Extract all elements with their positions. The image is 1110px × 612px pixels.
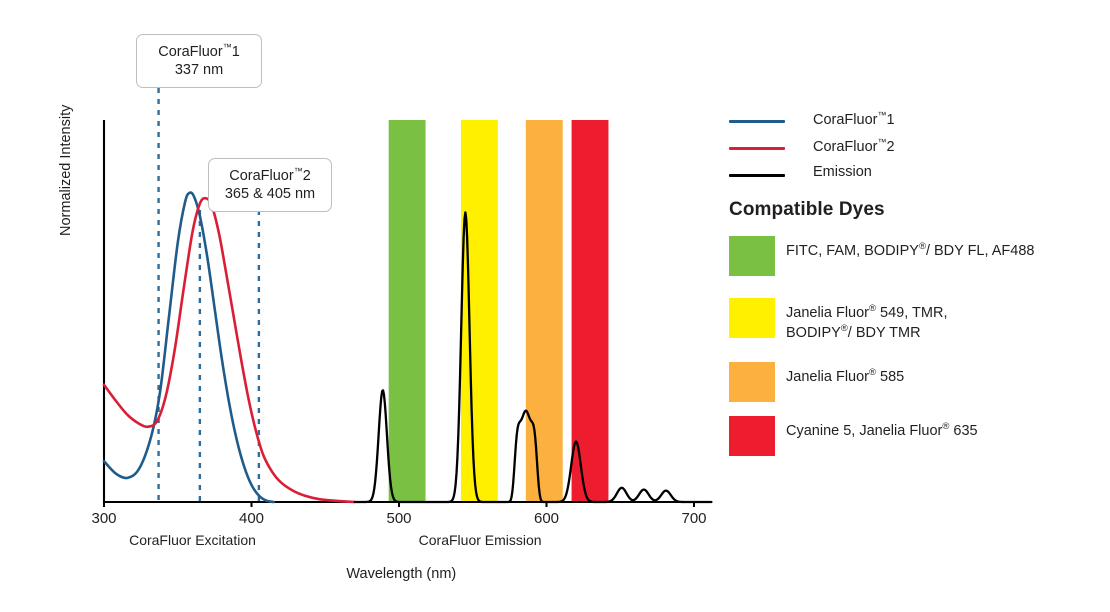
spectra-figure: CoraFluor™1 337 nm CoraFluor™2 365 & 405…	[0, 0, 1110, 612]
dye-swatch-2	[729, 362, 775, 402]
legend-line-swatch-0	[729, 120, 785, 123]
callout-corafluor2-line2: 365 & 405 nm	[221, 186, 319, 204]
callout-corafluor2-line1: CoraFluor™2	[221, 166, 319, 186]
dye-label-2: Janelia Fluor® 585	[786, 367, 1106, 387]
callout2-index: 2	[303, 168, 311, 184]
x-axis-excitation-label: CoraFluor Excitation	[113, 532, 273, 548]
callout2-tm-icon: ™	[294, 166, 303, 176]
x-tick-label-600: 600	[517, 510, 577, 527]
x-tick-label-700: 700	[664, 510, 724, 527]
legend-label-index-0: 1	[886, 112, 894, 128]
x-tick-label-400: 400	[222, 510, 282, 527]
curve-corafluor2	[104, 198, 355, 502]
dye-label-1-line-0: Janelia Fluor® 549, TMR,	[786, 303, 1106, 323]
registered-icon: ®	[919, 241, 926, 252]
legend-line-label-0: CoraFluor™1	[813, 110, 895, 128]
orange-band	[526, 120, 563, 502]
callout1-base: CoraFluor	[158, 44, 222, 60]
dye-label-0: FITC, FAM, BODIPY®/ BDY FL, AF488	[786, 241, 1106, 261]
callout-corafluor1-line2: 337 nm	[149, 62, 249, 80]
green-band	[389, 120, 426, 502]
callout1-index: 1	[232, 44, 240, 60]
registered-icon: ®	[869, 303, 876, 314]
legend-line-label-2: Emission	[813, 164, 872, 180]
y-axis-title: Normalized Intensity	[58, 105, 74, 236]
legend-label-base-0: CoraFluor	[813, 112, 877, 128]
x-axis-title: Wavelength (nm)	[346, 566, 456, 582]
legend-row-corafluor: CoraFluor™1	[729, 108, 1099, 135]
legend-line-label-1: CoraFluor™2	[813, 137, 895, 155]
compatible-dyes-title: Compatible Dyes	[729, 199, 885, 221]
registered-icon: ®	[869, 367, 876, 378]
curve-corafluor1	[104, 193, 274, 502]
dye-label-0-line-0: FITC, FAM, BODIPY®/ BDY FL, AF488	[786, 241, 1106, 261]
callout-corafluor2: CoraFluor™2 365 & 405 nm	[208, 158, 332, 212]
callout2-base: CoraFluor	[229, 168, 293, 184]
legend-row-corafluor: CoraFluor™2	[729, 135, 1099, 162]
legend-line-swatch-1	[729, 147, 785, 150]
x-tick-label-500: 500	[369, 510, 429, 527]
legend-row-emission: Emission	[729, 162, 1099, 189]
dye-label-2-line-0: Janelia Fluor® 585	[786, 367, 1106, 387]
callout-corafluor1-line1: CoraFluor™1	[149, 42, 249, 62]
legend-line-swatch-2	[729, 174, 785, 177]
dye-label-3: Cyanine 5, Janelia Fluor® 635	[786, 421, 1106, 441]
legend: CoraFluor™1CoraFluor™2Emission	[729, 108, 1099, 189]
dye-swatch-3	[729, 416, 775, 456]
x-axis-emission-label: CoraFluor Emission	[400, 532, 560, 548]
legend-label-index-1: 2	[886, 139, 894, 155]
registered-icon: ®	[841, 323, 848, 334]
dye-swatch-0	[729, 236, 775, 276]
dye-swatch-1	[729, 298, 775, 338]
callout1-tm-icon: ™	[223, 42, 232, 52]
legend-label-base-2: Emission	[813, 164, 872, 180]
legend-label-base-1: CoraFluor	[813, 139, 877, 155]
dye-label-1-line-1: BODIPY®/ BDY TMR	[786, 323, 1106, 343]
yellow-band	[461, 120, 498, 502]
x-tick-label-300: 300	[74, 510, 134, 527]
dye-label-3-line-0: Cyanine 5, Janelia Fluor® 635	[786, 421, 1106, 441]
callout-corafluor1: CoraFluor™1 337 nm	[136, 34, 262, 88]
dye-label-1: Janelia Fluor® 549, TMR,BODIPY®/ BDY TMR	[786, 303, 1106, 344]
